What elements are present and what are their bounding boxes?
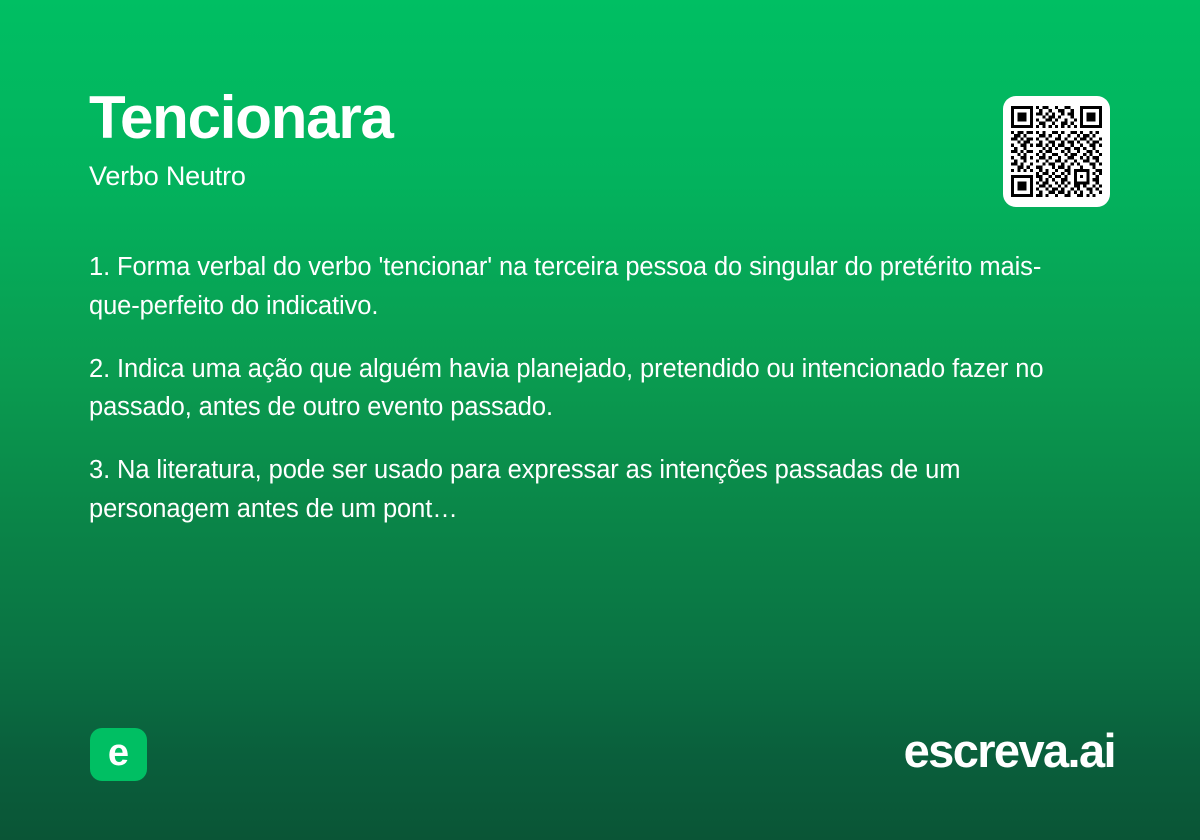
definition-card: Tencionara Verbo Neutro bbox=[0, 0, 1200, 840]
page-title: Tencionara bbox=[89, 88, 969, 148]
list-item: 2. Indica uma ação que alguém havia plan… bbox=[89, 350, 1079, 428]
card-footer: e escreva.ai bbox=[0, 720, 1200, 840]
word-class-label: Verbo Neutro bbox=[89, 162, 969, 192]
qr-code[interactable] bbox=[1003, 96, 1110, 207]
qr-code-icon bbox=[1011, 104, 1102, 199]
definitions-list: 1. Forma verbal do verbo 'tencionar' na … bbox=[89, 248, 1089, 529]
logo-letter: e bbox=[108, 734, 129, 772]
card-header: Tencionara Verbo Neutro bbox=[89, 88, 969, 192]
list-item: 3. Na literatura, pode ser usado para ex… bbox=[89, 451, 1079, 529]
brand-wordmark: escreva.ai bbox=[904, 723, 1115, 779]
list-item: 1. Forma verbal do verbo 'tencionar' na … bbox=[89, 248, 1079, 326]
escreva-logo-icon[interactable]: e bbox=[90, 728, 147, 781]
